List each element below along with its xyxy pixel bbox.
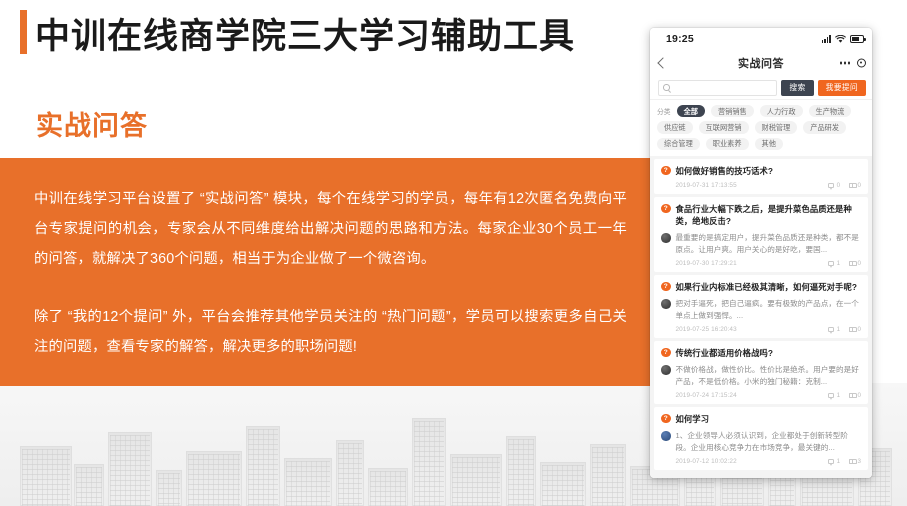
stats: 1 0 bbox=[828, 260, 861, 267]
nav-title: 实战问答 bbox=[738, 55, 784, 71]
timestamp: 2019-07-30 17:29:21 bbox=[676, 260, 737, 267]
filter-tag-logistics[interactable]: 生产物流 bbox=[809, 105, 852, 117]
avatar bbox=[661, 299, 671, 309]
like-count: 0 bbox=[858, 392, 861, 399]
like-count: 0 bbox=[858, 182, 861, 189]
thumbs-up-icon bbox=[849, 459, 855, 464]
question-line: ? 如何学习 bbox=[661, 413, 861, 425]
list-item[interactable]: ? 传统行业都适用价格战吗? 不做价格战，做性价比。性价比是绝杀。用户要的是好产… bbox=[654, 341, 868, 404]
comment-stat: 0 bbox=[828, 182, 840, 189]
question-text: 食品行业大幅下跌之后，是提升菜色品质还是种类，绝地反击? bbox=[676, 203, 862, 227]
status-clock: 19:25 bbox=[666, 33, 694, 45]
comment-icon bbox=[828, 393, 835, 398]
comment-stat: 1 bbox=[828, 326, 840, 333]
phone-mockup: 19:25 实战问答 搜 bbox=[650, 28, 872, 478]
like-count: 3 bbox=[858, 458, 861, 465]
filter-tag-product-rd[interactable]: 产品研发 bbox=[803, 121, 846, 133]
filter-row-1: 分类 全部 营销销售 人力行政 生产物流 bbox=[657, 105, 866, 117]
description-paragraph-1: 中训在线学习平台设置了 “实战问答” 模块，每个在线学习的学员，每年有12次匿名… bbox=[34, 184, 627, 274]
filter-tag-general-mgmt[interactable]: 综合管理 bbox=[657, 138, 700, 150]
stats: 1 3 bbox=[828, 458, 861, 465]
question-line: ? 传统行业都适用价格战吗? bbox=[661, 347, 861, 359]
signal-bars-icon bbox=[822, 35, 831, 43]
like-count: 0 bbox=[858, 260, 861, 267]
stats: 1 0 bbox=[828, 326, 861, 333]
list-item[interactable]: ? 如果行业内标准已经极其清晰，如何逼死对手呢? 把对手逼死，把自己逼疯。要有极… bbox=[654, 275, 868, 338]
like-stat: 0 bbox=[849, 260, 861, 267]
question-list[interactable]: ? 如何做好销售的技巧话术? 2019-07-31 17:13:55 0 0 bbox=[650, 156, 872, 478]
avatar bbox=[661, 365, 671, 375]
answer-line: 把对手逼死，把自己逼疯。要有极致的产品点，在一个单点上做到强悍。... bbox=[661, 298, 861, 321]
thumbs-up-icon bbox=[849, 393, 855, 398]
comment-stat: 1 bbox=[828, 260, 840, 267]
question-line: ? 如果行业内标准已经极其清晰，如何逼死对手呢? bbox=[661, 281, 861, 293]
like-stat: 3 bbox=[849, 458, 861, 465]
comment-icon bbox=[828, 261, 835, 266]
search-button[interactable]: 搜索 bbox=[781, 80, 813, 96]
comment-count: 0 bbox=[837, 182, 840, 189]
timestamp: 2019-07-24 17:15:24 bbox=[676, 392, 737, 399]
thumbs-up-icon bbox=[849, 261, 855, 266]
like-stat: 0 bbox=[849, 392, 861, 399]
comment-count: 1 bbox=[837, 392, 840, 399]
target-circle-icon[interactable] bbox=[857, 59, 866, 68]
filter-row-3: 综合管理 职业素养 其他 bbox=[657, 138, 866, 150]
wifi-icon bbox=[835, 35, 846, 44]
filter-label: 分类 bbox=[657, 106, 671, 116]
timestamp: 2019-07-25 16:20:43 bbox=[676, 326, 737, 333]
meta-line: 2019-07-30 17:29:21 1 0 bbox=[661, 260, 861, 267]
more-dots-icon[interactable] bbox=[840, 62, 850, 64]
comment-icon bbox=[828, 327, 835, 332]
question-badge-icon: ? bbox=[661, 282, 671, 292]
filter-tag-supply-chain[interactable]: 供应链 bbox=[657, 121, 693, 133]
meta-line: 2019-07-24 17:15:24 1 0 bbox=[661, 392, 861, 399]
answer-text: 不做价格战，做性价比。性价比是绝杀。用户要的是好产品，不是低价格。小米的独门秘籍… bbox=[676, 364, 862, 387]
like-stat: 0 bbox=[849, 326, 861, 333]
chevron-left-icon[interactable] bbox=[657, 57, 668, 68]
search-field[interactable] bbox=[658, 80, 777, 96]
question-text: 如果行业内标准已经极其清晰，如何逼死对手呢? bbox=[676, 281, 858, 293]
question-line: ? 如何做好销售的技巧话术? bbox=[661, 165, 861, 177]
comment-count: 1 bbox=[837, 326, 840, 333]
category-filters: 分类 全部 营销销售 人力行政 生产物流 供应链 互联网营销 财税管理 产品研发… bbox=[650, 100, 872, 156]
answer-text: 把对手逼死，把自己逼疯。要有极致的产品点，在一个单点上做到强悍。... bbox=[676, 298, 862, 321]
question-text: 传统行业都适用价格战吗? bbox=[676, 347, 774, 359]
phone-status-bar: 19:25 bbox=[650, 28, 872, 50]
filter-tag-finance-tax[interactable]: 财税管理 bbox=[755, 121, 798, 133]
question-badge-icon: ? bbox=[661, 348, 671, 358]
comment-icon bbox=[828, 183, 835, 188]
like-stat: 0 bbox=[849, 182, 861, 189]
filter-tag-all[interactable]: 全部 bbox=[677, 105, 705, 117]
status-system-icons bbox=[822, 35, 864, 44]
stats: 0 0 bbox=[828, 182, 861, 189]
search-icon bbox=[663, 84, 670, 91]
timestamp: 2019-07-31 17:13:55 bbox=[676, 182, 737, 189]
description-block: 中训在线学习平台设置了 “实战问答” 模块，每个在线学习的学员，每年有12次匿名… bbox=[0, 158, 663, 386]
question-line: ? 食品行业大幅下跌之后，是提升菜色品质还是种类，绝地反击? bbox=[661, 203, 861, 227]
search-bar: 搜索 我要提问 bbox=[650, 76, 872, 100]
filter-tag-marketing[interactable]: 营销销售 bbox=[711, 105, 754, 117]
phone-nav-bar: 实战问答 bbox=[650, 50, 872, 76]
question-text: 如何做好销售的技巧话术? bbox=[676, 165, 774, 177]
ask-question-button[interactable]: 我要提问 bbox=[818, 80, 866, 96]
question-badge-icon: ? bbox=[661, 166, 671, 176]
question-badge-icon: ? bbox=[661, 204, 671, 214]
filter-tag-internet-mkt[interactable]: 互联网营销 bbox=[699, 121, 749, 133]
page-title: 中训在线商学院三大学习辅助工具 bbox=[35, 8, 575, 59]
slide-canvas: 中训在线商学院三大学习辅助工具 实战问答 中训在线学习平台设置了 “实战问答” … bbox=[0, 0, 907, 506]
comment-count: 1 bbox=[837, 260, 840, 267]
question-text: 如何学习 bbox=[676, 413, 710, 425]
wechat-capsule bbox=[840, 59, 866, 68]
battery-icon bbox=[850, 35, 864, 43]
comment-stat: 1 bbox=[828, 458, 840, 465]
thumbs-up-icon bbox=[849, 327, 855, 332]
avatar bbox=[661, 233, 671, 243]
thumbs-up-icon bbox=[849, 183, 855, 188]
comment-icon bbox=[828, 459, 835, 464]
filter-tag-other[interactable]: 其他 bbox=[755, 138, 783, 150]
description-paragraph-2: 除了 “我的12个提问” 外，平台会推荐其他学员关注的 “热门问题”，学员可以搜… bbox=[34, 302, 627, 362]
answer-text: 1、企业领导人必须认识到，企业都处于创新转型阶段。企业用核心竞争力在市场竞争，最… bbox=[676, 430, 862, 453]
answer-line: 1、企业领导人必须认识到，企业都处于创新转型阶段。企业用核心竞争力在市场竞争，最… bbox=[661, 430, 861, 453]
question-badge-icon: ? bbox=[661, 414, 671, 424]
comment-stat: 1 bbox=[828, 392, 840, 399]
like-count: 0 bbox=[858, 326, 861, 333]
meta-line: 2019-07-25 16:20:43 1 0 bbox=[661, 326, 861, 333]
filter-row-2: 供应链 互联网营销 财税管理 产品研发 bbox=[657, 121, 866, 133]
section-subtitle: 实战问答 bbox=[36, 104, 148, 143]
search-input[interactable] bbox=[673, 83, 773, 92]
list-item[interactable]: ? 如何做好销售的技巧话术? 2019-07-31 17:13:55 0 0 bbox=[654, 159, 868, 194]
answer-line: 最重要的是搞定用户，提升菜色品质还是种类，都不是原点。让用户爽。用户关心的是好吃… bbox=[661, 232, 861, 255]
list-item[interactable]: ? 如何学习 1、企业领导人必须认识到，企业都处于创新转型阶段。企业用核心竞争力… bbox=[654, 407, 868, 470]
list-item[interactable]: ? 食品行业大幅下跌之后，是提升菜色品质还是种类，绝地反击? 最重要的是搞定用户… bbox=[654, 197, 868, 272]
meta-line: 2019-07-12 10:02:22 1 3 bbox=[661, 458, 861, 465]
answer-text: 最重要的是搞定用户，提升菜色品质还是种类，都不是原点。让用户爽。用户关心的是好吃… bbox=[676, 232, 862, 255]
title-accent-bar bbox=[20, 10, 27, 54]
comment-count: 1 bbox=[837, 458, 840, 465]
stats: 1 0 bbox=[828, 392, 861, 399]
meta-line: 2019-07-31 17:13:55 0 0 bbox=[661, 182, 861, 189]
avatar bbox=[661, 431, 671, 441]
filter-tag-hr[interactable]: 人力行政 bbox=[760, 105, 803, 117]
answer-line: 不做价格战，做性价比。性价比是绝杀。用户要的是好产品，不是低价格。小米的独门秘籍… bbox=[661, 364, 861, 387]
timestamp: 2019-07-12 10:02:22 bbox=[676, 458, 737, 465]
filter-tag-professional[interactable]: 职业素养 bbox=[706, 138, 749, 150]
